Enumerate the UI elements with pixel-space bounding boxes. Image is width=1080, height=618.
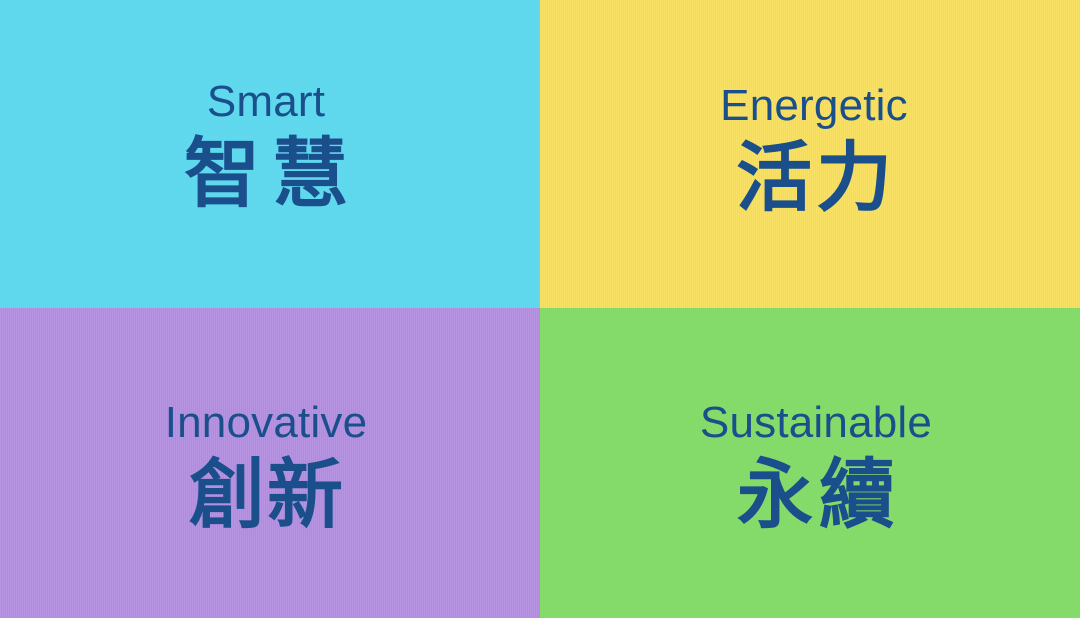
quadrant-energetic-label-zh: 活力 [720, 135, 908, 220]
quadrant-smart-label-zh: 智慧 [172, 131, 360, 216]
quadrant-innovative-label-zh: 創新 [165, 452, 368, 537]
quadrant-sustainable[interactable]: Sustainable 永續 [540, 308, 1080, 618]
quadrant-smart[interactable]: Smart 智慧 [0, 0, 540, 308]
quadrant-sustainable-label-zh: 永續 [700, 452, 932, 537]
brand-values-board: Smart 智慧 Energetic 活力 Innovative 創新 Sust… [0, 0, 1080, 618]
quadrant-innovative[interactable]: Innovative 創新 [0, 308, 540, 618]
quadrant-energetic-text: Energetic 活力 [720, 84, 908, 220]
quadrant-energetic-label-en: Energetic [720, 84, 908, 129]
quadrant-grid: Smart 智慧 Energetic 活力 Innovative 創新 Sust… [0, 0, 1080, 618]
quadrant-smart-text: Smart 智慧 [172, 80, 360, 216]
quadrant-sustainable-text: Sustainable 永續 [700, 401, 932, 537]
quadrant-innovative-text: Innovative 創新 [165, 401, 368, 537]
quadrant-sustainable-label-en: Sustainable [700, 401, 932, 446]
quadrant-energetic[interactable]: Energetic 活力 [540, 0, 1080, 308]
quadrant-innovative-label-en: Innovative [165, 401, 368, 446]
quadrant-smart-label-en: Smart [172, 80, 360, 125]
